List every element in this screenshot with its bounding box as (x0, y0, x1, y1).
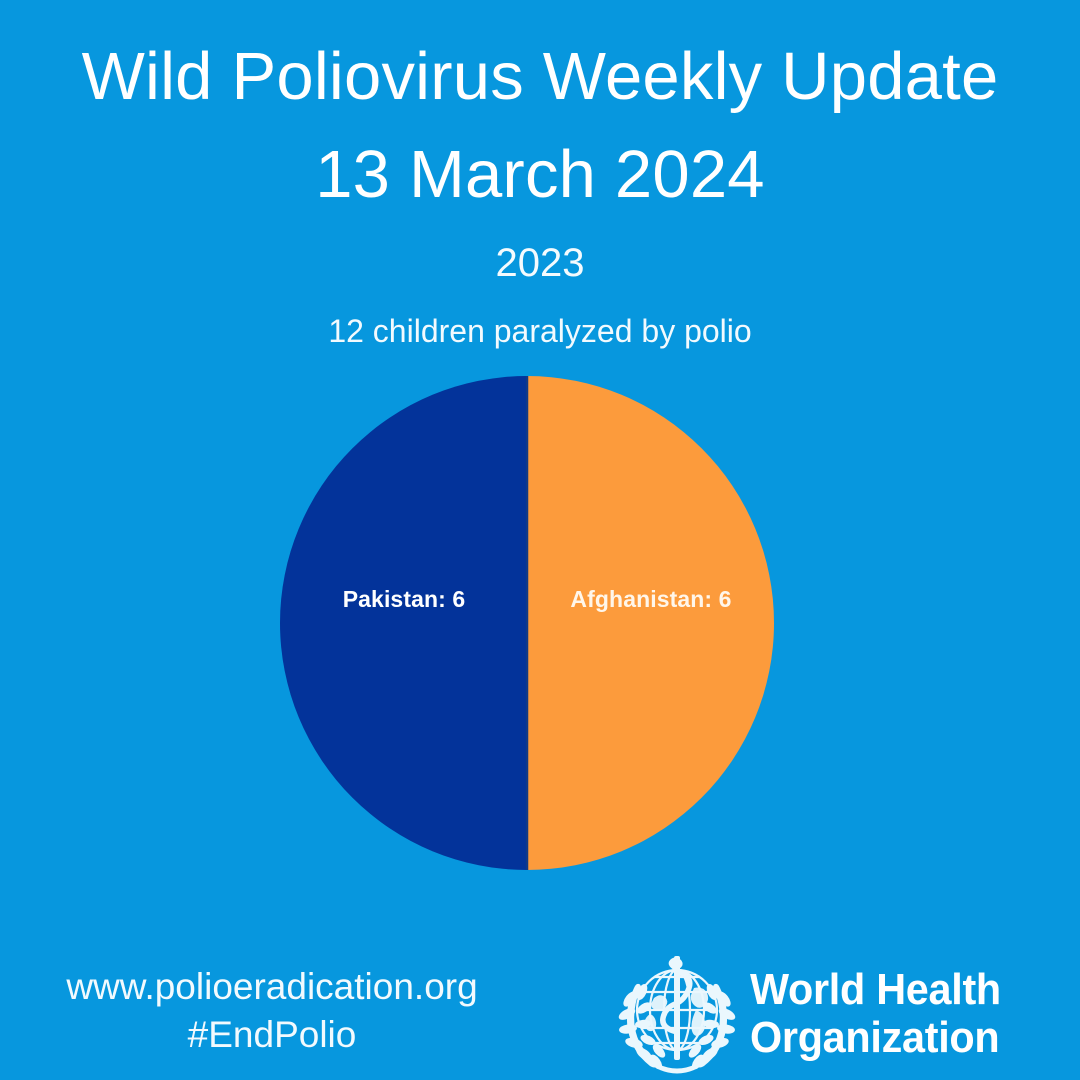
who-wordmark-line-2: Organization (750, 1013, 999, 1062)
who-wordmark: World Health Organization (750, 966, 1001, 1062)
chart-year-label: 2023 (0, 240, 1080, 286)
pie-label-afghanistan: Afghanistan: 6 (528, 588, 774, 611)
who-emblem-icon (614, 952, 740, 1076)
pie-slice-pakistan[interactable] (280, 376, 527, 870)
pie-chart: Pakistan: 6 Afghanistan: 6 (280, 376, 774, 870)
pie-label-pakistan: Pakistan: 6 (280, 588, 528, 611)
header-block: Wild Poliovirus Weekly Update 13 March 2… (0, 28, 1080, 350)
website-url[interactable]: www.polioeradication.org (16, 963, 528, 1011)
pie-chart-svg (280, 376, 774, 870)
who-wordmark-line-1: World Health (750, 965, 1001, 1014)
chart-subtitle: 12 children paralyzed by polio (0, 312, 1080, 350)
pie-slice-afghanistan[interactable] (527, 376, 774, 870)
page-title-line-2: 13 March 2024 (0, 126, 1080, 224)
page-title-line-1: Wild Poliovirus Weekly Update (0, 28, 1080, 126)
who-logo: World Health Organization (614, 952, 1014, 1076)
poster-canvas: Wild Poliovirus Weekly Update 13 March 2… (0, 0, 1080, 1080)
footer-links: www.polioeradication.org #EndPolio (16, 963, 528, 1059)
hashtag-endpolio[interactable]: #EndPolio (16, 1011, 528, 1059)
